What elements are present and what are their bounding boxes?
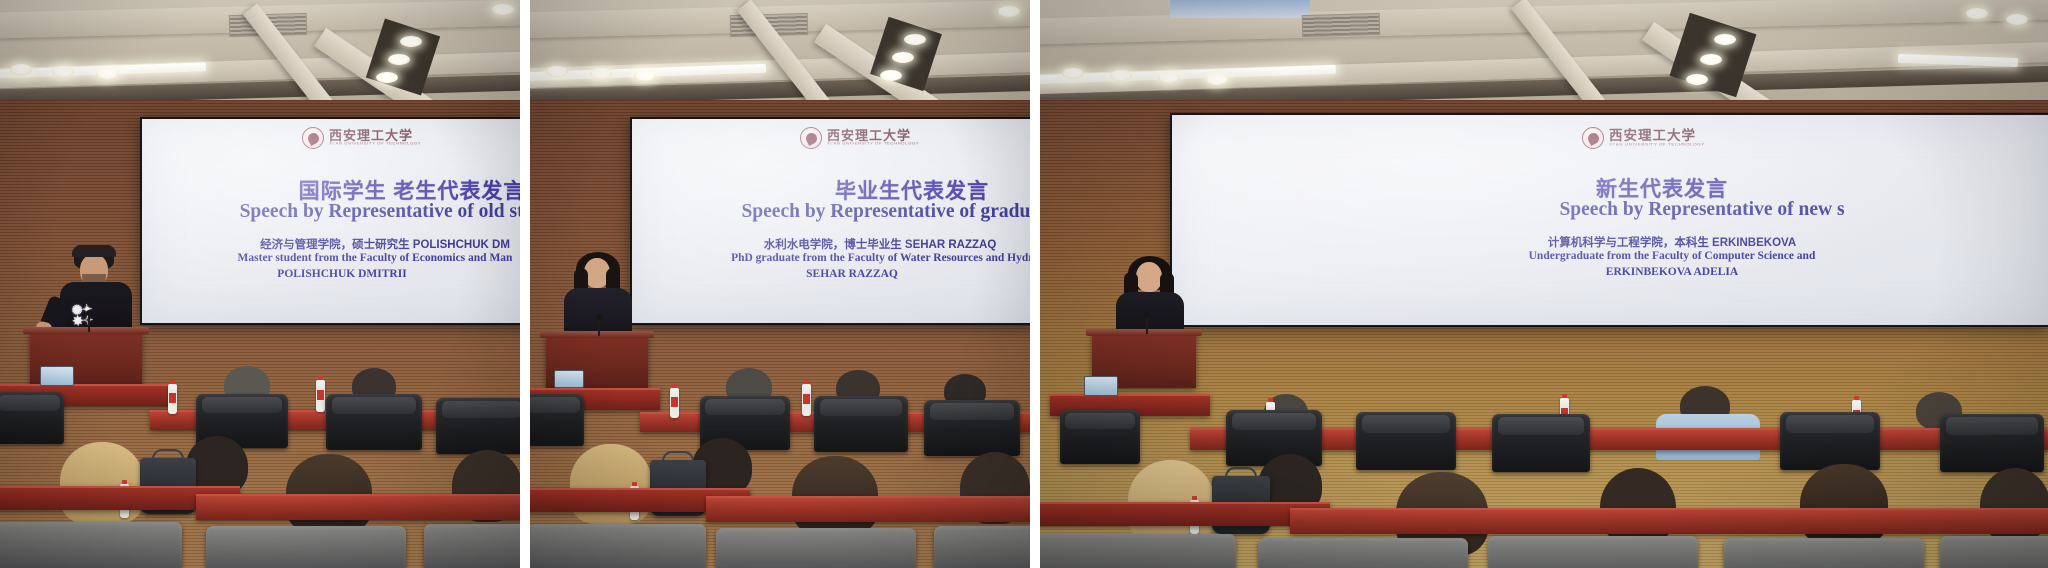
university-logo: 西安理工大学 XI'AN UNIVERSITY OF TECHNOLOGY: [1582, 127, 1705, 149]
ceiling-downlight: [998, 6, 1020, 17]
ceiling-air-vent: [1302, 13, 1381, 37]
panel-new-student-speech[interactable]: 西安理工大学 XI'AN UNIVERSITY OF TECHNOLOGY 新生…: [1040, 0, 2048, 568]
ceiling: [1040, 0, 2048, 112]
audience-seat: [1488, 536, 1698, 568]
ceiling-downlight: [96, 68, 118, 79]
ceiling-downlight: [590, 68, 612, 79]
audience-seat: [1940, 536, 2048, 568]
audience-seat: [0, 522, 182, 568]
audience-seat: [814, 396, 908, 452]
slide-speaker-name: SEHAR RAZZAQ: [652, 268, 1030, 280]
desk-monitor: [40, 366, 74, 386]
audience-seat: [436, 398, 520, 454]
ceiling-downlight: [546, 66, 568, 77]
audience-desk: [196, 494, 520, 520]
ceiling-downlight: [52, 66, 74, 77]
ceiling: [530, 0, 1030, 112]
ceiling-downlight: [1714, 34, 1736, 45]
ceiling-downlight: [376, 72, 398, 83]
audience-seat: [1356, 412, 1456, 470]
slide-title-en: Speech by Representative of graduat: [654, 201, 1030, 223]
audience-seat: [326, 394, 422, 450]
ceiling-downlight: [1062, 68, 1084, 79]
audience-area: [530, 318, 1030, 568]
audience-head: [1600, 468, 1676, 546]
university-logo-en: XI'AN UNIVERSITY OF TECHNOLOGY: [329, 142, 421, 145]
ceiling-downlight: [492, 4, 514, 15]
audience-seat: [1040, 534, 1236, 568]
audience-seat: [1940, 414, 2044, 472]
audience-seat: [530, 394, 584, 446]
university-crest-icon: [1582, 127, 1604, 149]
panel-old-student-speech[interactable]: 西安理工大学 XI'AN UNIVERSITY OF TECHNOLOGY 国际…: [0, 0, 520, 568]
ceiling-downlight: [634, 70, 656, 81]
audience-seat: [1060, 410, 1140, 464]
ceiling-downlight: [2006, 14, 2028, 25]
audience-desk: [706, 496, 1030, 522]
desk-monitor: [554, 370, 584, 388]
slide-subtitle-en: Undergraduate from the Faculty of Comput…: [1372, 250, 1972, 262]
slide-content: 西安理工大学 XI'AN UNIVERSITY OF TECHNOLOGY 新生…: [1172, 115, 2048, 325]
water-bottle: [670, 388, 679, 418]
ceiling-skylight: [1170, 0, 1310, 18]
audience-head-blonde: [570, 444, 652, 524]
audience-area: [0, 318, 520, 568]
slide-subtitle-en: Master student from the Faculty of Econo…: [150, 252, 520, 264]
audience-head-blonde: [60, 442, 144, 524]
ceiling-downlight: [1700, 54, 1722, 65]
university-crest-icon: [800, 127, 822, 149]
ceiling-downlight: [880, 70, 902, 81]
ceiling-downlight: [892, 52, 914, 63]
university-logo-cn: 西安理工大学: [1609, 129, 1705, 143]
audience-seat: [924, 400, 1020, 456]
ceiling-downlight: [1206, 74, 1228, 85]
audience-seat: [530, 524, 706, 568]
water-bottle: [802, 384, 811, 416]
university-logo: 西安理工大学 XI'AN UNIVERSITY OF TECHNOLOGY: [302, 127, 421, 149]
audience-seat: [716, 528, 916, 568]
ceiling-downlight: [1110, 70, 1132, 81]
slide-title-en: Speech by Representative of old stu: [152, 201, 520, 223]
slide-title-en: Speech by Representative of new s: [1352, 199, 2048, 221]
university-logo-en: XI'AN UNIVERSITY OF TECHNOLOGY: [1609, 143, 1705, 147]
slide-speaker-name: ERKINBEKOVA ADELIA: [1392, 266, 1952, 278]
audience-seat: [0, 392, 64, 444]
projection-screen[interactable]: 西安理工大学 XI'AN UNIVERSITY OF TECHNOLOGY 毕业…: [630, 117, 1030, 325]
ceiling-downlight: [1966, 8, 1988, 19]
audience-seat: [1492, 414, 1590, 472]
ceiling-downlight: [400, 36, 422, 47]
ceiling: [0, 0, 520, 112]
audience-seat: [424, 524, 520, 568]
desk-monitor: [1084, 376, 1118, 396]
water-bottle: [316, 380, 325, 412]
audience-seat: [1724, 538, 1924, 568]
slide-subtitle-cn: 经济与管理学院，硕士研究生 POLISHCHUK DM: [170, 236, 520, 252]
speaker-head: [1136, 262, 1162, 292]
university-logo-en: XI'AN UNIVERSITY OF TECHNOLOGY: [827, 142, 919, 145]
panel-graduate-speech[interactable]: 西安理工大学 XI'AN UNIVERSITY OF TECHNOLOGY 毕业…: [530, 0, 1030, 568]
projection-screen[interactable]: 西安理工大学 XI'AN UNIVERSITY OF TECHNOLOGY 新生…: [1170, 113, 2048, 327]
speaker-cap-icon: [72, 245, 116, 257]
slide-content: 西安理工大学 XI'AN UNIVERSITY OF TECHNOLOGY 毕业…: [632, 119, 1030, 323]
ceiling-downlight: [10, 64, 32, 75]
ceiling-downlight: [1686, 74, 1708, 85]
projection-screen[interactable]: 西安理工大学 XI'AN UNIVERSITY OF TECHNOLOGY 国际…: [140, 117, 520, 325]
audience-seat: [1258, 538, 1468, 568]
audience-seat: [934, 526, 1030, 568]
ceiling-downlight: [904, 34, 926, 45]
ceiling-downlight: [388, 54, 410, 65]
three-panel-photo-composite: 西安理工大学 XI'AN UNIVERSITY OF TECHNOLOGY 国际…: [0, 0, 2048, 568]
university-crest-icon: [302, 127, 324, 149]
slide-subtitle-cn: 水利水电学院，博士毕业生 SEHAR RAZZAQ: [680, 236, 1030, 252]
slide-content: 西安理工大学 XI'AN UNIVERSITY OF TECHNOLOGY 国际…: [142, 119, 520, 323]
audience-seat: [206, 526, 406, 568]
ceiling-downlight: [1158, 72, 1180, 83]
water-bottle: [168, 384, 177, 414]
slide-speaker-name: POLISHCHUK DMITRII: [142, 268, 520, 280]
audience-desk: [1290, 508, 2048, 534]
slide-subtitle-cn: 计算机科学与工程学院，本科生 ERKINBEKOVA: [1412, 234, 1932, 250]
slide-subtitle-en: PhD graduate from the Faculty of Water R…: [650, 252, 1030, 264]
audience-area: [1040, 318, 2048, 568]
audience-seat: [1780, 412, 1880, 470]
audience-desk: [1040, 502, 1330, 526]
university-logo: 西安理工大学 XI'AN UNIVERSITY OF TECHNOLOGY: [800, 127, 919, 149]
